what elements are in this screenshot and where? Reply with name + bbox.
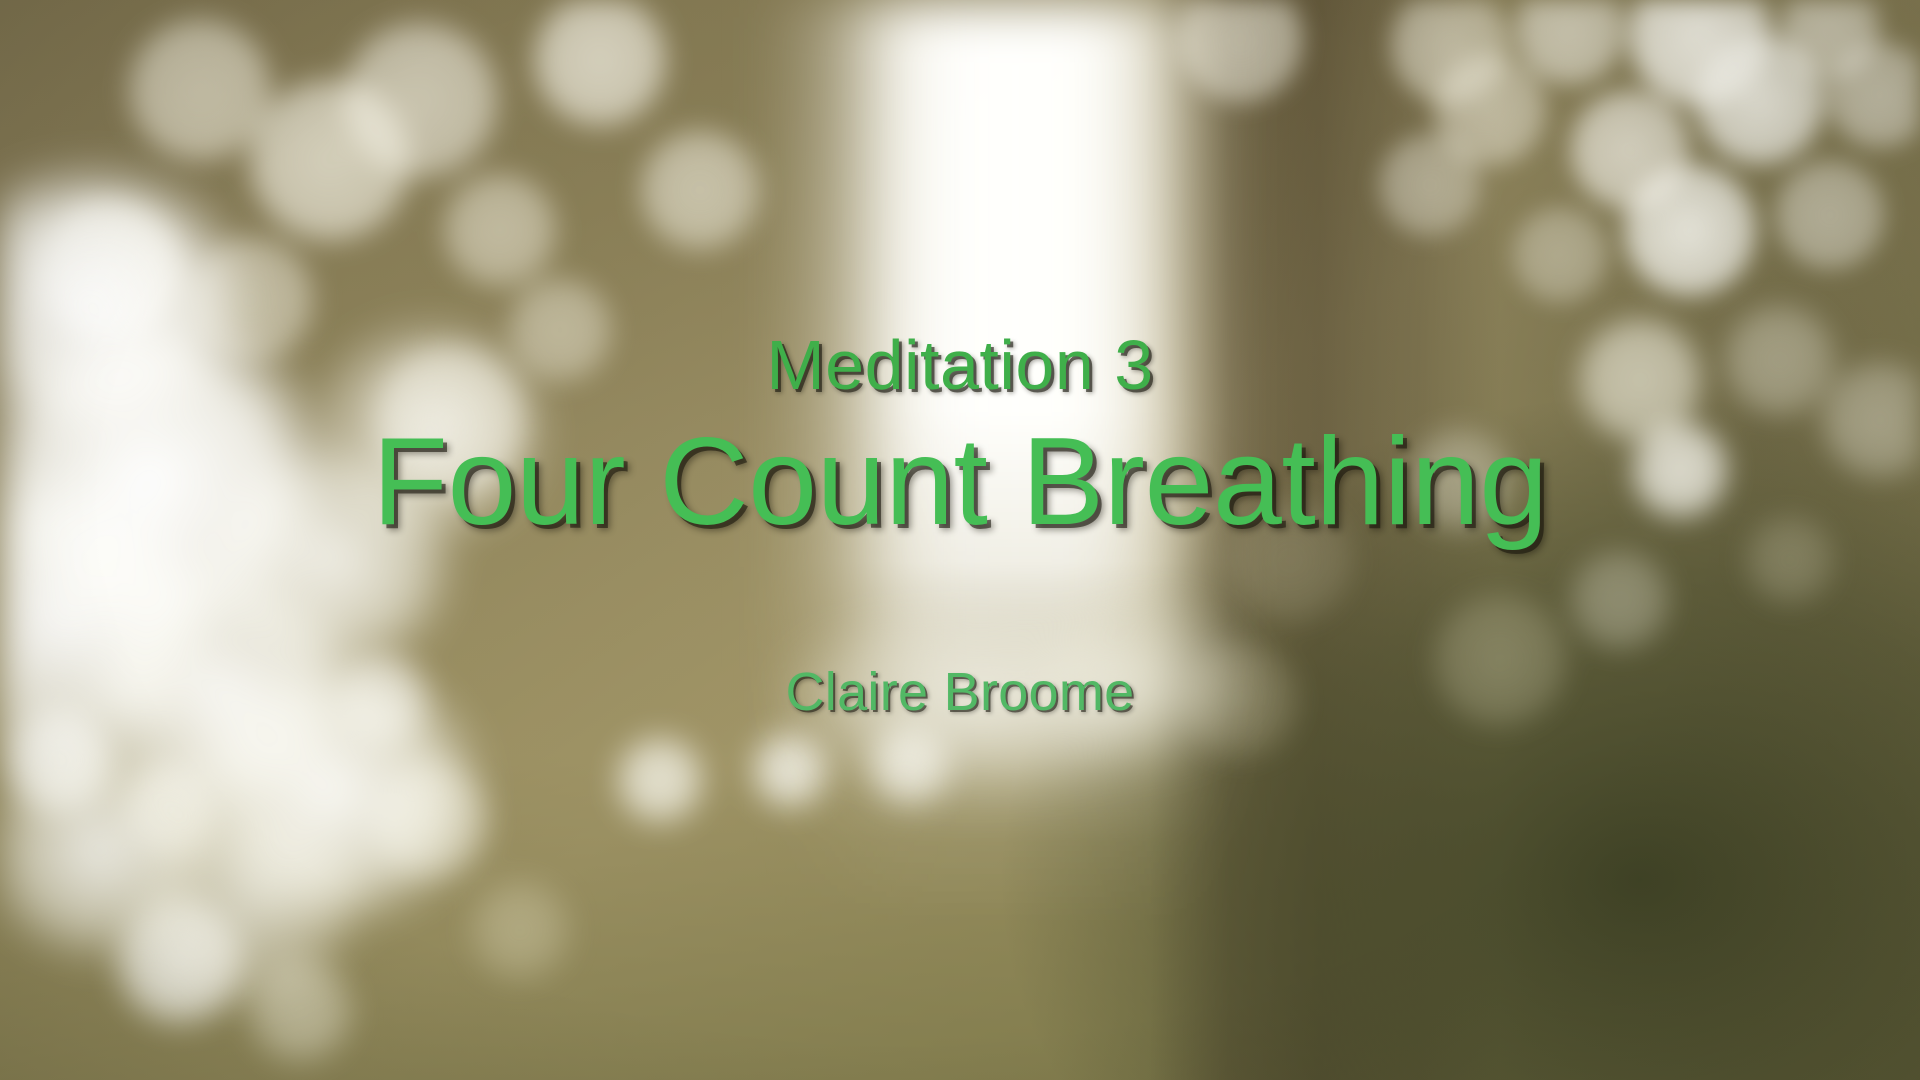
title-card-slide: Meditation 3 Four Count Breathing Claire… [0, 0, 1920, 1080]
page-title: Four Count Breathing [0, 420, 1920, 544]
series-title: Meditation 3 [0, 330, 1920, 400]
author-byline: Claire Broome [0, 665, 1920, 719]
